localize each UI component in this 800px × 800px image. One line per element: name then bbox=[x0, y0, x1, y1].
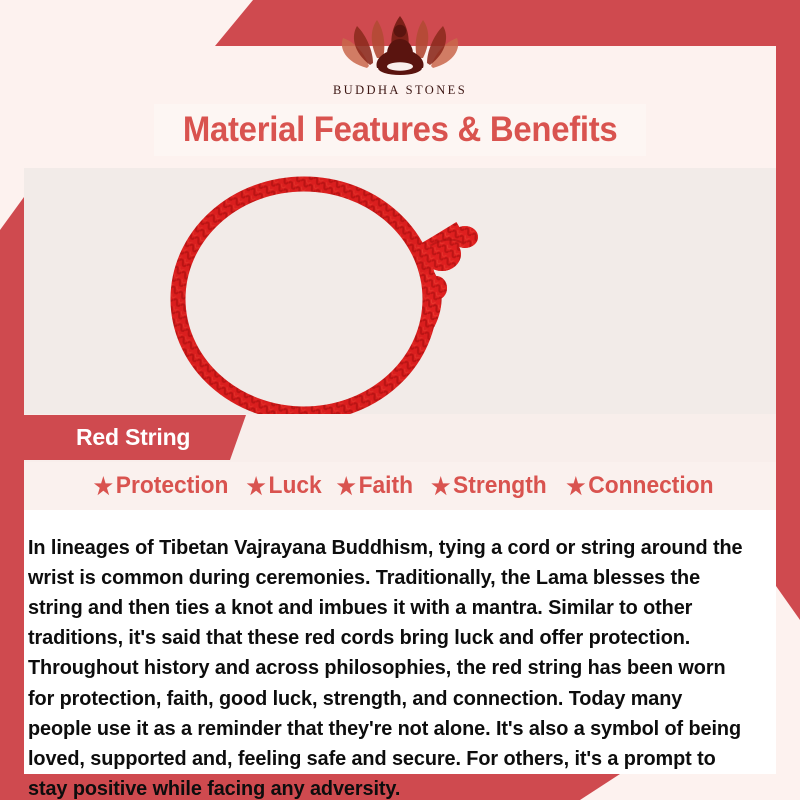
poster-root: BUDDHA STONES Material Features & Benefi… bbox=[0, 0, 800, 800]
page-title-box: Material Features & Benefits bbox=[154, 104, 646, 156]
page-title: Material Features & Benefits bbox=[183, 110, 618, 150]
brand-wordmark: BUDDHA STONES bbox=[333, 83, 467, 98]
star-icon: ★ bbox=[566, 475, 585, 498]
benefit-label: Luck bbox=[268, 472, 321, 500]
material-label-text: Red String bbox=[76, 424, 190, 451]
star-icon: ★ bbox=[246, 475, 265, 498]
header: BUDDHA STONES Material Features & Benefi… bbox=[0, 0, 800, 168]
material-label-banner: Red String bbox=[24, 415, 246, 460]
star-icon: ★ bbox=[337, 475, 356, 498]
red-braided-string-bracelet-icon bbox=[24, 168, 776, 414]
benefit-item-strength: ★ Strength bbox=[423, 472, 546, 500]
benefit-item-luck: ★ Luck bbox=[239, 472, 322, 500]
lotus-meditation-icon bbox=[337, 8, 463, 82]
star-icon: ★ bbox=[431, 475, 450, 498]
benefit-label: Connection bbox=[588, 472, 713, 500]
benefit-item-faith: ★ Faith bbox=[330, 472, 414, 500]
benefit-item-protection: ★ Protection bbox=[86, 472, 228, 500]
product-image-panel bbox=[24, 168, 776, 414]
description-panel: In lineages of Tibetan Vajrayana Buddhis… bbox=[24, 510, 776, 774]
star-icon: ★ bbox=[94, 475, 113, 498]
benefit-label: Protection bbox=[116, 472, 229, 500]
frame-band-left bbox=[0, 197, 24, 800]
benefit-label: Strength bbox=[453, 472, 547, 500]
brand-logo: BUDDHA STONES bbox=[0, 8, 800, 98]
description-text: In lineages of Tibetan Vajrayana Buddhis… bbox=[28, 533, 750, 800]
benefit-label: Faith bbox=[359, 472, 413, 500]
benefits-row: ★ Protection ★ Luck ★ Faith ★ Strength ★… bbox=[24, 462, 776, 510]
benefit-item-connection: ★ Connection bbox=[559, 472, 714, 500]
